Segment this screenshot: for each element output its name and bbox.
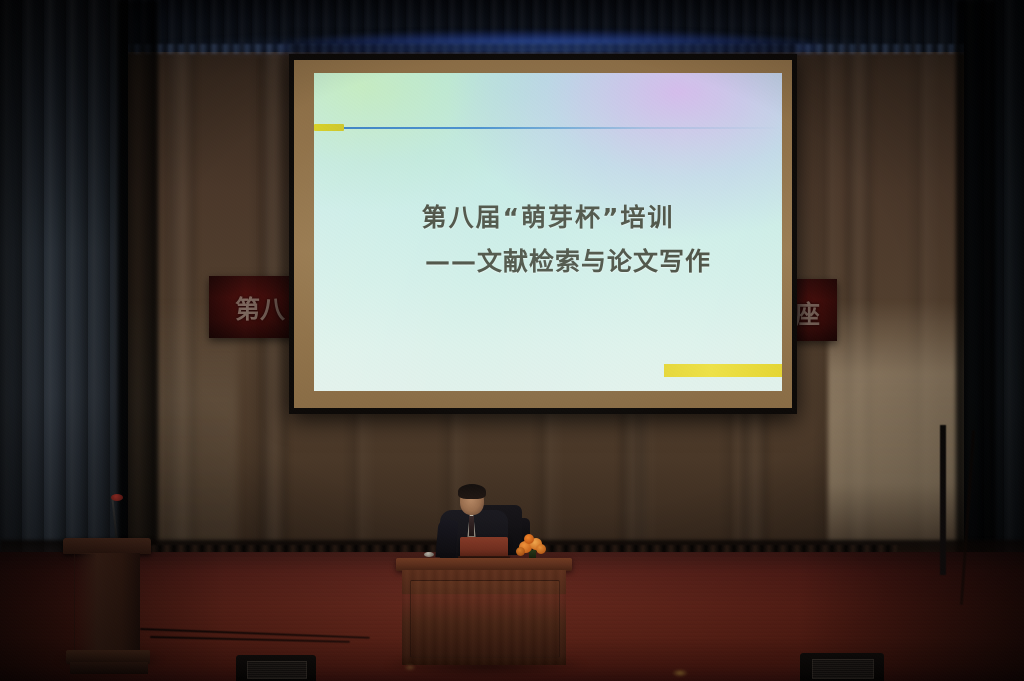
presenter-tie xyxy=(469,516,474,536)
stage-photo-scene: 第八 座 第八届“萌芽杯”培训 ——文献检索与论文写作 xyxy=(0,0,1024,681)
banner-left: 第八 xyxy=(209,276,299,338)
desk-microphone-icon xyxy=(424,552,434,557)
podium-body xyxy=(74,553,140,653)
equipment-stand xyxy=(940,425,946,575)
projection-screen: 第八届“萌芽杯”培训 ——文献检索与论文写作 xyxy=(289,54,797,414)
flower-bloom xyxy=(516,547,525,556)
stage-monitor-right xyxy=(800,653,884,681)
flower-bloom xyxy=(536,544,546,554)
presenter-hair xyxy=(458,484,486,499)
floor-light-spot xyxy=(404,664,416,671)
slide-text-block: 第八届“萌芽杯”培训 ——文献检索与论文写作 xyxy=(314,73,782,391)
stage-monitor-left xyxy=(236,655,316,681)
flower-bouquet xyxy=(516,534,548,558)
flower-bloom xyxy=(524,534,534,544)
desk-wood-grain xyxy=(402,570,566,665)
presenter-arm xyxy=(435,519,458,559)
banner-shading xyxy=(209,276,299,338)
speaker-grille xyxy=(247,661,307,679)
screen-mat-border: 第八届“萌芽杯”培训 ——文献检索与论文写作 xyxy=(294,60,792,408)
podium-top xyxy=(63,538,151,554)
floor-light-spot xyxy=(672,669,688,677)
speaker-grille xyxy=(812,659,874,678)
projected-slide: 第八届“萌芽杯”培训 ——文献检索与论文写作 xyxy=(314,73,782,391)
slide-title: 第八届“萌芽杯”培训 xyxy=(422,198,675,234)
microphone-icon xyxy=(111,494,123,501)
podium-base-lower xyxy=(70,662,148,674)
slide-subtitle: ——文献检索与论文写作 xyxy=(385,242,711,278)
